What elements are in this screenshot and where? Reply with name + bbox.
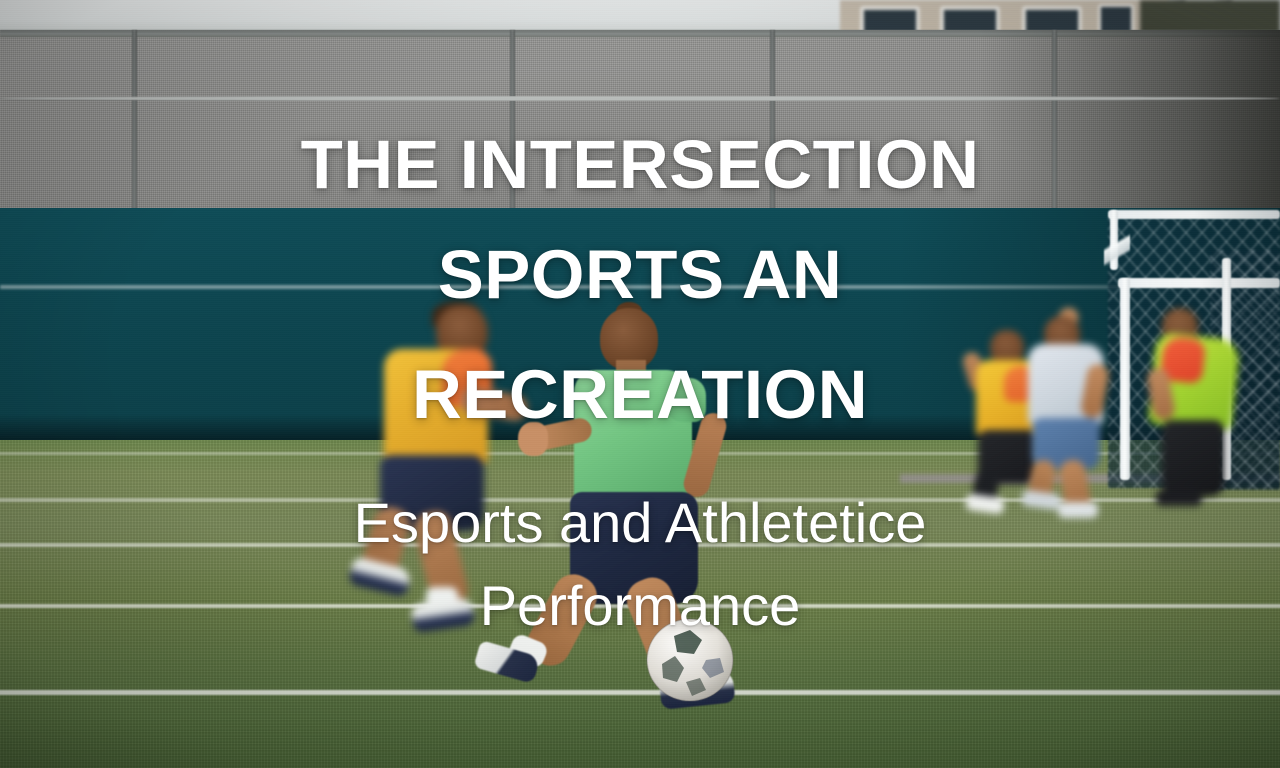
- fence-cable: [0, 96, 1280, 176]
- goal-crossbar-back: [1108, 210, 1280, 219]
- player-pants: [1162, 420, 1224, 496]
- soccer-ball: [644, 616, 736, 702]
- player-hand: [518, 422, 548, 456]
- goalkeeper-lime: [1148, 308, 1252, 508]
- player-shoe: [1021, 489, 1061, 510]
- player-shoe: [1156, 490, 1202, 506]
- goal-support-bar: [1104, 212, 1130, 292]
- right-player-white: [1022, 310, 1126, 510]
- player-shoulder: [666, 378, 706, 422]
- goal-crossbar-front: [1118, 278, 1280, 288]
- player-shoe: [1058, 502, 1098, 518]
- banner-image: THE INTERSECTION SPORTS AN RECREATION Es…: [0, 0, 1280, 768]
